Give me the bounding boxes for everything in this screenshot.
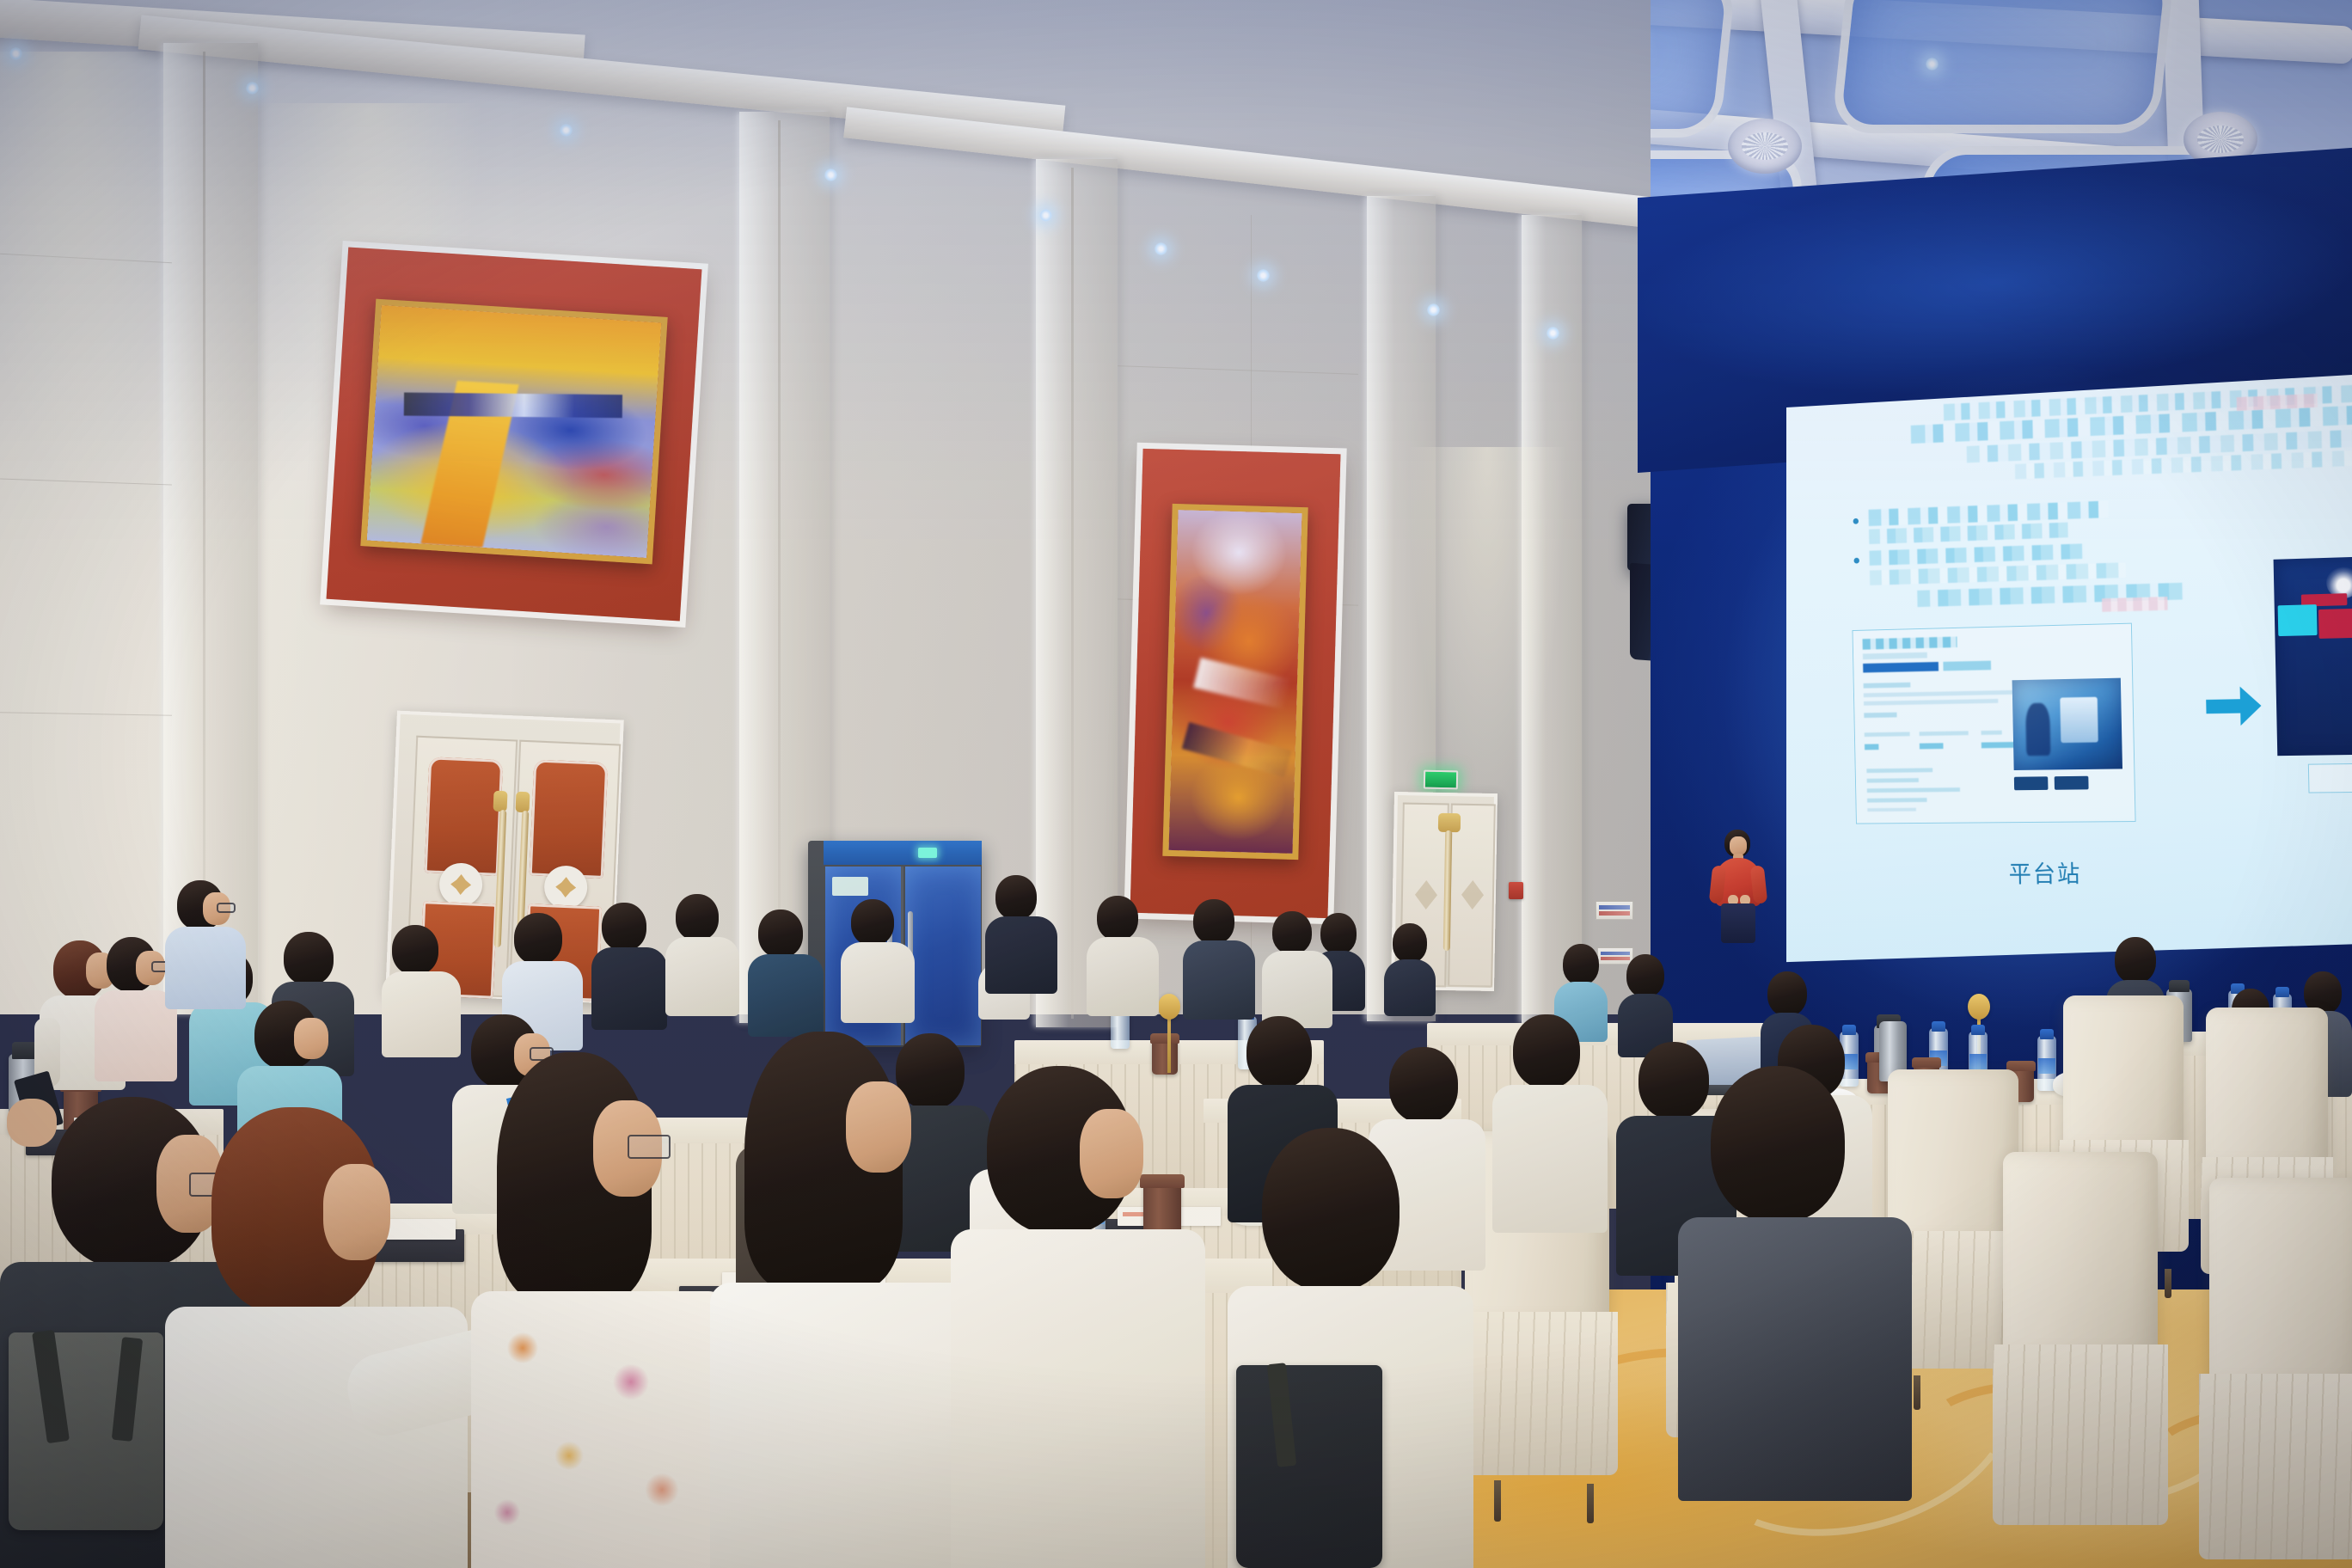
- wall-downlight: [824, 168, 837, 181]
- floral-blouse: [471, 1291, 729, 1568]
- banquet-chair[interactable]: [2209, 1178, 2352, 1384]
- slide-card-button-1[interactable]: [2014, 776, 2049, 790]
- door-handle-right[interactable]: [516, 792, 530, 813]
- banquet-chair[interactable]: [2003, 1152, 2158, 1355]
- presenter: [1709, 830, 1769, 941]
- refrigerator-label: [832, 877, 868, 896]
- ceiling-coffer-panel: [1831, 0, 2175, 133]
- wall-pilaster: [1036, 159, 1118, 1027]
- abstract-figure-painting: [1168, 510, 1302, 854]
- conference-hall-photo: 平台站: [0, 0, 2352, 1568]
- artwork-frame-portrait: [1162, 504, 1308, 860]
- artwork-frame-landscape: [360, 299, 667, 565]
- wall-downlight: [1039, 209, 1052, 222]
- slide-content-card: [1853, 623, 2136, 824]
- slide-caption-chinese: 平台站: [2008, 856, 2081, 890]
- presentation-slide: 平台站: [1812, 375, 2352, 968]
- wall-plaque-upper: [1596, 901, 1633, 920]
- slide-card-button-2[interactable]: [2055, 776, 2089, 790]
- door-diamond-inlay: [1415, 880, 1438, 910]
- banquet-chair[interactable]: [2206, 1008, 2328, 1167]
- door-panel-inset: [530, 759, 609, 878]
- eyeglasses: [628, 1135, 671, 1159]
- eyeglasses: [217, 903, 236, 913]
- wall-downlight: [1257, 269, 1270, 282]
- wall-downlight: [1427, 303, 1440, 316]
- wall-plaque-lower: [1597, 947, 1633, 965]
- slide-bullet-1: [1853, 518, 1859, 524]
- door-diamond-inlay: [1461, 880, 1485, 910]
- door-handle-left[interactable]: [493, 791, 508, 812]
- wall-downlight: [560, 124, 573, 137]
- wall-downlight: [1547, 327, 1559, 340]
- projection-screen: 平台站: [1786, 375, 2352, 968]
- slide-card-photo: [2012, 678, 2122, 770]
- service-door-handle[interactable]: [1438, 813, 1461, 832]
- wall-downlight: [9, 47, 22, 60]
- presenter-skirt: [1721, 903, 1755, 943]
- table-number-stand: [1167, 1014, 1171, 1073]
- refrigerator-header: [824, 841, 982, 865]
- tote-bag[interactable]: [1236, 1365, 1382, 1568]
- hand: [7, 1099, 57, 1147]
- ceramic-teacup[interactable]: [1143, 1185, 1181, 1234]
- banquet-chair[interactable]: [2063, 995, 2184, 1150]
- fire-alarm-call-point[interactable]: [1509, 882, 1523, 899]
- right-arrow-icon: [2206, 686, 2262, 726]
- exit-sign: [1424, 770, 1458, 790]
- slide-app-caption-box: [2308, 763, 2352, 793]
- refrigerator-display: [918, 848, 937, 858]
- slide-app-screenshot: [2274, 555, 2352, 756]
- abstract-landscape-painting: [367, 305, 662, 558]
- thermos-cap: [2169, 980, 2190, 992]
- banquet-chair[interactable]: [1888, 1069, 2018, 1241]
- wall-pilaster: [163, 43, 258, 1014]
- door-panel-inset: [425, 756, 504, 875]
- refrigerator-glass-door-right[interactable]: [905, 867, 981, 1045]
- ceiling-downlight: [1926, 58, 1939, 70]
- wall-downlight: [1155, 242, 1167, 255]
- ceramic-teacup[interactable]: [1152, 1040, 1178, 1075]
- wall-downlight: [246, 82, 259, 95]
- ceiling-rosette: [1728, 119, 1802, 174]
- slide-bullet-2: [1853, 558, 1859, 564]
